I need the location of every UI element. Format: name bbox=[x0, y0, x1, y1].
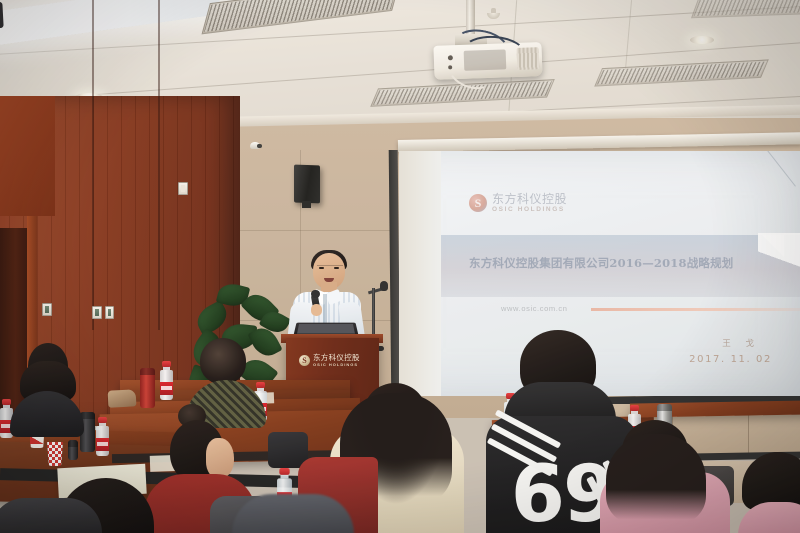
audience-member bbox=[600, 420, 728, 533]
podium-logo-cn: 东方科仪控股 bbox=[313, 354, 360, 362]
audience-member bbox=[0, 498, 100, 533]
audience-member bbox=[232, 494, 352, 533]
wall-plate bbox=[178, 182, 188, 195]
person-torso bbox=[0, 498, 102, 533]
speaker-bracket bbox=[302, 201, 311, 208]
microphone-head-icon bbox=[311, 290, 320, 298]
wood-panel-seam bbox=[158, 0, 160, 330]
air-vent bbox=[594, 59, 769, 86]
paper-cup bbox=[46, 442, 64, 466]
recessed-downlight bbox=[690, 36, 714, 44]
slide-divider bbox=[591, 308, 800, 311]
slide-title: 东方科仪控股集团有限公司2016—2018战略规划 bbox=[469, 255, 782, 271]
slide-date: 2017. 11. 02 bbox=[689, 354, 772, 365]
audience-member bbox=[10, 343, 82, 433]
osic-logo-icon bbox=[299, 355, 310, 366]
slide-url: www.osic.com.cn bbox=[501, 304, 568, 313]
person-torso bbox=[232, 494, 354, 533]
small-canister bbox=[68, 440, 78, 460]
ceiling-light-panel bbox=[0, 0, 221, 46]
presenter-eye bbox=[334, 267, 339, 269]
security-camera-icon bbox=[250, 140, 262, 149]
person-hair bbox=[606, 434, 706, 524]
podium-logo-en: OSIC HOLDINGS bbox=[313, 363, 360, 367]
person-torso bbox=[10, 391, 84, 437]
light-switch[interactable] bbox=[42, 303, 52, 316]
presenter-hand bbox=[311, 304, 322, 316]
person-face bbox=[206, 438, 234, 478]
light-switch[interactable] bbox=[105, 306, 114, 319]
light-switch[interactable] bbox=[92, 306, 102, 319]
wood-wall-corner bbox=[0, 96, 55, 216]
wall-speaker bbox=[294, 165, 320, 204]
osic-logo-icon bbox=[469, 194, 487, 212]
mic-stand-head-icon bbox=[380, 281, 388, 291]
slide-logo-en: OSIC HOLDINGS bbox=[492, 207, 567, 214]
ceiling-panel-seam bbox=[625, 0, 632, 70]
screen-blank-margin bbox=[399, 151, 441, 396]
person-head bbox=[200, 338, 246, 384]
conference-table bbox=[630, 400, 800, 417]
slide-band-fold-icon bbox=[762, 235, 784, 257]
air-vent bbox=[202, 0, 401, 34]
desk-ornament bbox=[108, 389, 137, 407]
wood-panel-seam bbox=[92, 0, 94, 330]
conference-room-photo: 东方科仪控股 OSIC HOLDINGS 东方科仪控股集团有限公司2016—20… bbox=[0, 0, 800, 533]
slide-logo: 东方科仪控股 OSIC HOLDINGS bbox=[469, 193, 567, 214]
audience-member bbox=[742, 452, 800, 533]
slide-logo-cn: 东方科仪控股 bbox=[492, 193, 567, 205]
air-vent bbox=[691, 0, 800, 18]
water-bottle bbox=[96, 418, 109, 456]
water-bottle bbox=[160, 362, 173, 400]
presenter-eye bbox=[319, 267, 324, 269]
podium-logo-plate: 东方科仪控股 OSIC HOLDINGS bbox=[299, 352, 371, 369]
sprinkler-icon bbox=[487, 8, 500, 20]
thermos-flask bbox=[140, 368, 155, 408]
slide-presenter-name: 王 戈 bbox=[722, 337, 760, 349]
